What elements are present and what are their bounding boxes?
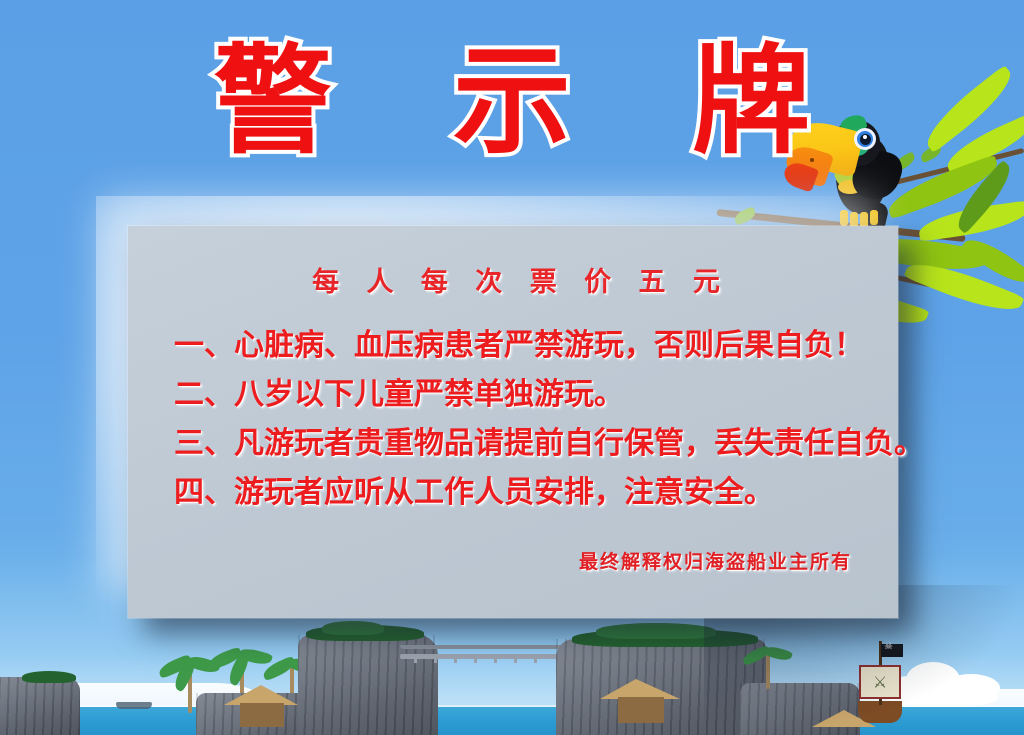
bridge-plank — [414, 654, 417, 663]
rule-item: 二、八岁以下儿童严禁单独游玩。 — [174, 370, 880, 419]
toucan-foot — [870, 210, 878, 225]
bridge-plank — [454, 654, 457, 663]
rule-item: 四、游玩者应听从工作人员安排，注意安全。 — [174, 468, 880, 517]
rope-bridge-deck — [400, 654, 564, 659]
rule-item: 一、心脏病、血压病患者严禁游玩，否则后果自负！ — [174, 321, 880, 370]
crossed-swords-icon: ⚔ — [873, 673, 887, 692]
canopy-center-right-2 — [596, 623, 716, 639]
hut-body-center — [618, 697, 664, 723]
bridge-plank — [494, 654, 497, 663]
leaf-small — [733, 206, 758, 225]
toucan-foot — [840, 210, 848, 226]
cliff-right — [740, 683, 860, 735]
canopy-center-left-2 — [322, 621, 384, 635]
bridge-plank — [534, 654, 537, 663]
poster-title: 警 示 牌 — [0, 26, 1024, 176]
hut-body-left — [240, 703, 284, 727]
rules-list: 一、心脏病、血压病患者严禁游玩，否则后果自负！ 二、八岁以下儿童严禁单独游玩。 … — [152, 321, 880, 517]
notice-panel: 每 人 每 次 票 价 五 元 一、心脏病、血压病患者严禁游玩，否则后果自负！ … — [128, 226, 898, 618]
disclaimer-footnote: 最终解释权归海盗船业主所有 — [152, 547, 880, 574]
pirate-ship: ⚔ — [848, 637, 912, 723]
cliff-far-left — [0, 677, 80, 735]
island-scenery: ⚔ — [0, 615, 1024, 735]
canopy-left — [22, 671, 76, 683]
rule-item: 三、凡游玩者贵重物品请提前自行保管，丢失责任自负。 — [174, 419, 880, 468]
skull-flag-icon — [881, 644, 903, 657]
bridge-plank — [474, 654, 477, 663]
palm-trunk-4 — [766, 655, 770, 689]
bridge-plank — [514, 654, 517, 663]
cliff-center-left — [298, 635, 438, 735]
bridge-plank — [434, 654, 437, 663]
ship-sail: ⚔ — [859, 665, 901, 699]
ticket-price-subtitle: 每 人 每 次 票 价 五 元 — [152, 260, 880, 299]
rope-bridge-top — [400, 645, 564, 649]
warning-sign-poster: ⚔ — [0, 0, 1024, 735]
